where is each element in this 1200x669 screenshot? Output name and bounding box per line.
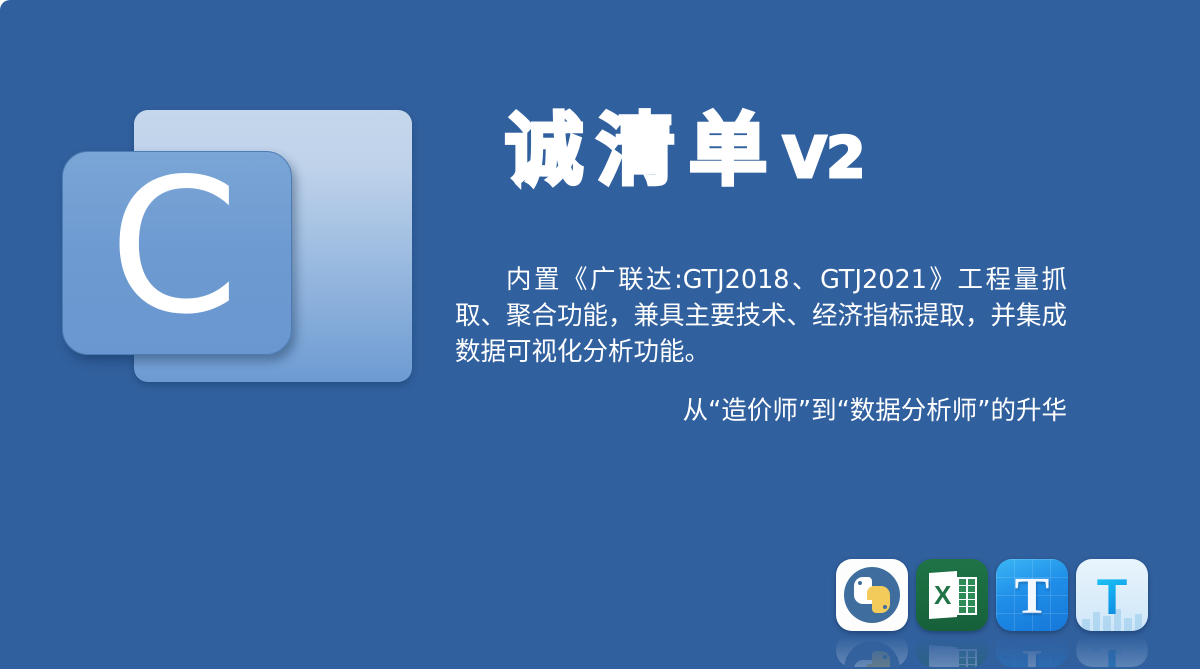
excel-document: X (929, 571, 957, 619)
logo-letter: C (109, 154, 239, 340)
tableau-light-icon-reflection: T (1076, 633, 1148, 667)
python-icon-reflection (836, 633, 908, 667)
tableau-blue-icon-slot[interactable]: T T (996, 559, 1068, 669)
product-version: V2 (783, 131, 865, 187)
python-lower-snake (872, 586, 890, 613)
tableau-light-icon-slot[interactable]: T T (1076, 559, 1148, 669)
tableau-light-letter: T (1076, 572, 1148, 622)
excel-icon-slot[interactable]: X (916, 559, 988, 669)
excel-grid (957, 577, 977, 615)
excel-letter: X (934, 582, 951, 608)
product-name-cn: 诚清单 (505, 112, 781, 190)
python-icon-slot[interactable] (836, 559, 908, 669)
app-logo: C (62, 96, 432, 396)
python-eye-lower (883, 605, 887, 609)
logo-front-tile: C (62, 151, 292, 355)
tableau-blue-icon-reflection: T (996, 633, 1068, 667)
python-circle (844, 567, 900, 623)
product-description: 内置《广联达:GTJ2018、GTJ2021》工程量抓取、聚合功能，兼具主要技术… (455, 262, 1067, 370)
python-eye-upper (858, 581, 862, 585)
python-icon[interactable] (836, 559, 908, 631)
python-snakes (854, 577, 890, 613)
tableau-light-icon[interactable]: T (1076, 559, 1148, 631)
tableau-blue-letter: T (996, 571, 1068, 623)
product-tagline: 从“造价师”到“数据分析师”的升华 (455, 394, 1067, 428)
tableau-blue-icon[interactable]: T (996, 559, 1068, 631)
splash-screen: C 诚清单 V2 内置《广联达:GTJ2018、GTJ2021》工程量抓取、聚合… (0, 0, 1200, 669)
excel-icon-reflection (916, 633, 988, 667)
integration-icon-bar: X T (836, 559, 1148, 669)
excel-icon[interactable]: X (916, 559, 988, 631)
product-title: 诚清单 V2 (505, 112, 865, 190)
